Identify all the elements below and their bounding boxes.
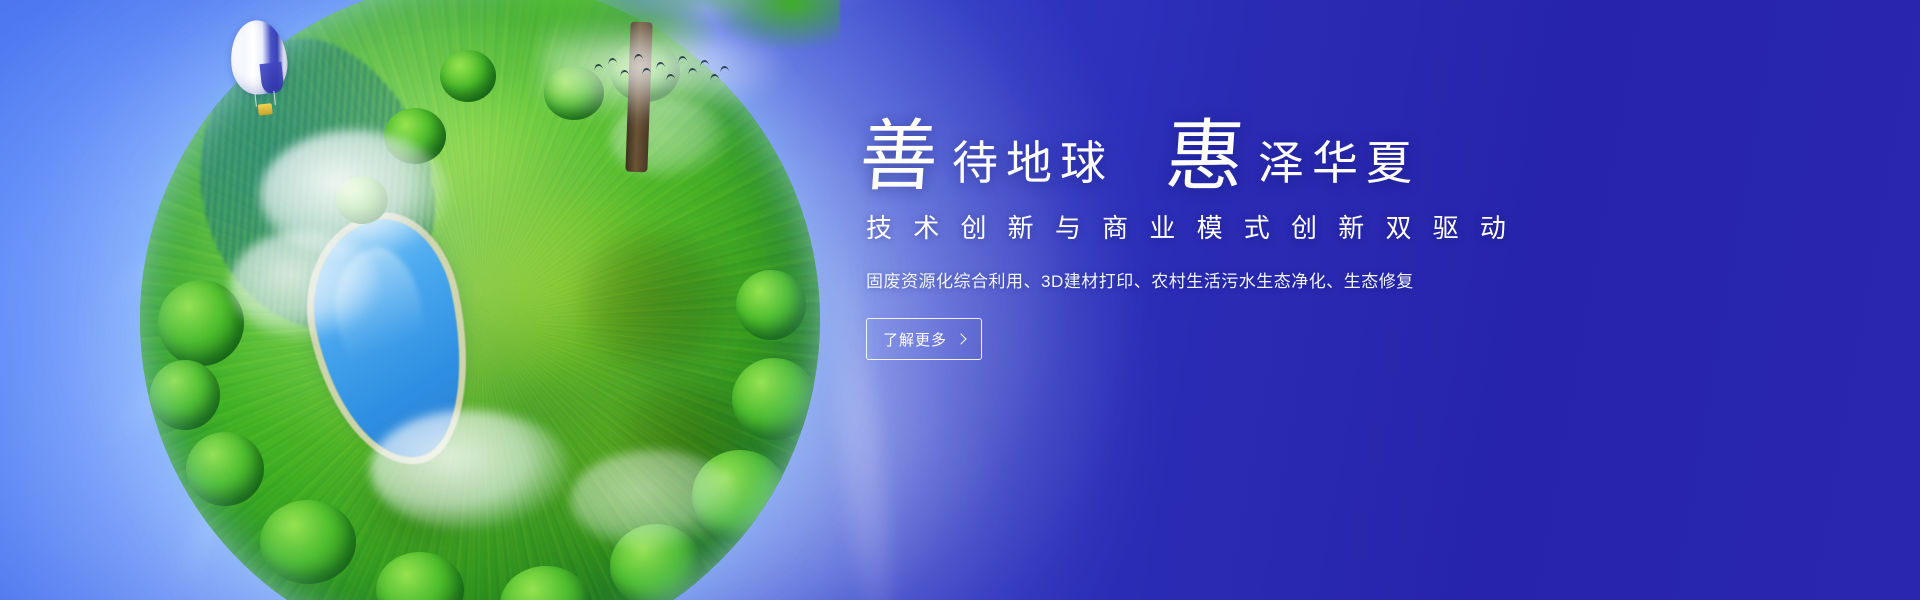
cloud-puff [570, 450, 740, 550]
bird-icon [700, 59, 710, 67]
learn-more-label: 了解更多 [883, 329, 947, 350]
cloud-puff [370, 410, 570, 530]
tree-canopy [736, 270, 806, 340]
headline-rest-1: 待地球 [952, 141, 1114, 187]
bird-icon [720, 65, 730, 73]
bird-icon [642, 67, 652, 75]
hero-banner: 善 待地球 惠 泽华夏 技 术 创 新 与 商 业 模 式 创 新 双 驱 动 … [0, 0, 1920, 600]
headline: 善 待地球 惠 泽华夏 [860, 120, 1560, 194]
large-tree [500, 0, 830, 192]
tree-canopy [186, 432, 264, 506]
balloon-basket [258, 103, 273, 115]
tree-canopy [732, 358, 816, 440]
learn-more-button[interactable]: 了解更多 [866, 318, 982, 360]
headline-rest-2: 泽华夏 [1258, 141, 1420, 187]
balloon-stripe [259, 62, 284, 94]
bird-icon [608, 57, 618, 65]
banner-content: 善 待地球 惠 泽华夏 技 术 创 新 与 商 业 模 式 创 新 双 驱 动 … [860, 120, 1560, 360]
bird-icon [634, 53, 644, 61]
tree-canopy [440, 50, 496, 102]
flying-birds [590, 48, 730, 92]
hot-air-balloon [227, 17, 297, 121]
tree-canopy [150, 360, 220, 430]
banner-description: 固废资源化综合利用、3D建材打印、农村生活污水生态净化、生态修复 [866, 267, 1560, 292]
bird-icon [688, 67, 698, 75]
bird-icon [710, 73, 720, 81]
bird-icon [656, 61, 666, 69]
headline-lead-char-2: 惠 [1163, 120, 1246, 194]
cloud-puff [230, 230, 380, 340]
headline-phrase-1: 善 待地球 [860, 120, 1114, 194]
bird-icon [666, 73, 676, 81]
chevron-right-icon [955, 333, 966, 344]
banner-subtitle: 技 术 创 新 与 商 业 模 式 创 新 双 驱 动 [866, 208, 1560, 245]
tree-canopy [260, 500, 356, 584]
bird-icon [678, 55, 688, 63]
headline-lead-char-1: 善 [857, 120, 940, 194]
bird-icon [620, 69, 630, 77]
bird-icon [594, 63, 604, 71]
headline-phrase-2: 惠 泽华夏 [1166, 120, 1420, 194]
